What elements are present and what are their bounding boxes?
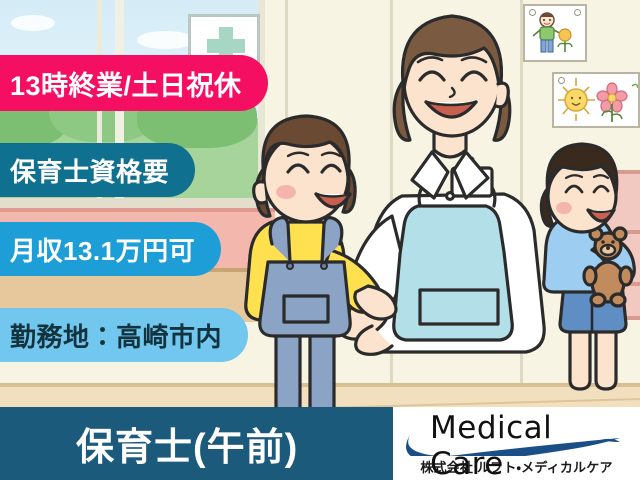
badge-work-location-label: 勤務地：高崎市内 <box>10 317 222 354</box>
company-logo-panel: Medical Care 株式会社 ルフト・メディカルケア <box>393 407 640 480</box>
child-with-teddy-bear <box>541 144 634 389</box>
badge-qualification: 保育士資格要 <box>0 143 195 197</box>
job-title: 保育士(午前) <box>76 416 298 471</box>
badge-monthly-salary: 月収13.1万円可 <box>0 222 221 276</box>
job-advertisement-poster: 13時終業/土日祝休 保育士資格要 月収13.1万円可 勤務地：高崎市内 保育士… <box>0 0 640 480</box>
logo-wordmark: Medical Care <box>430 410 629 480</box>
badge-qualification-label: 保育士資格要 <box>10 152 169 189</box>
badge-monthly-salary-label: 月収13.1万円可 <box>10 231 195 268</box>
badge-work-location: 勤務地：高崎市内 <box>0 308 248 362</box>
logo-lockup: Medical Care <box>404 412 629 456</box>
badge-work-hours-label: 13時終業/土日祝休 <box>10 64 242 103</box>
badge-work-hours: 13時終業/土日祝休 <box>0 55 268 111</box>
